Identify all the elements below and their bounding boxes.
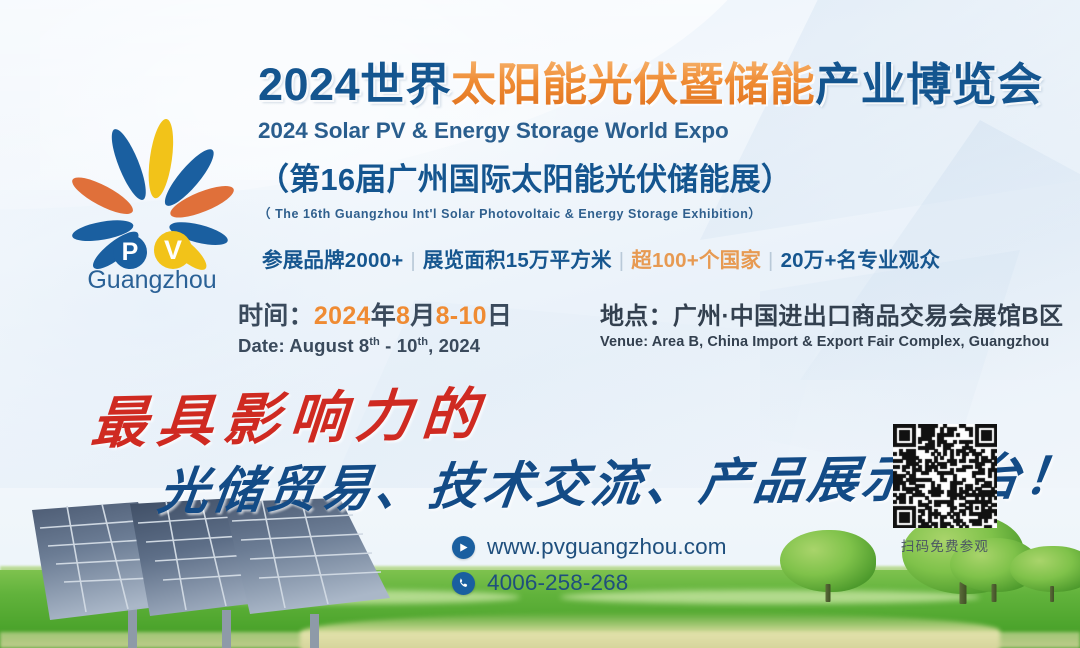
main-title-part-1: 2024世界	[258, 59, 451, 110]
main-title-english: 2024 Solar PV & Energy Storage World Exp…	[258, 118, 1058, 144]
tree-crown	[1010, 546, 1080, 592]
date-label: 时间：	[238, 302, 314, 330]
logo-wordmark: Guangzhou	[87, 266, 216, 294]
main-title-part-2: 太阳能光伏暨储能	[451, 59, 815, 110]
stat-separator-2: |	[612, 249, 632, 272]
contact-website-row[interactable]: www.pvguangzhou.com	[452, 534, 727, 560]
venue-value: 广州·中国进出口商品交易会展馆B区	[673, 303, 1063, 330]
tree-crown	[780, 530, 876, 592]
logo-sunburst-petals	[68, 117, 237, 275]
date-day-start: 8	[436, 302, 450, 330]
tree-far-right	[1010, 546, 1080, 592]
stat-countries: 超100+个国家	[631, 249, 761, 272]
date-en-day1: 8	[359, 335, 369, 356]
stat-area: 展览面积15万平方米	[423, 249, 612, 272]
venue-chinese: 地点：广州·中国进出口商品交易会展馆B区	[600, 296, 1063, 331]
qr-block: 扫码免费参观	[893, 424, 997, 555]
qr-caption: 扫码免费参观	[893, 535, 997, 555]
headline-block: 2024世界太阳能光伏暨储能产业博览会 2024 Solar PV & Ener…	[258, 62, 1058, 222]
tree-trunk	[826, 584, 831, 602]
stat-separator-3: |	[761, 249, 781, 272]
stat-brands: 参展品牌2000+	[262, 249, 403, 272]
qr-code[interactable]	[893, 424, 997, 528]
subtitle-chinese: （第16届广州国际太阳能光伏储能展）	[258, 154, 1058, 199]
date-en-mid: -	[380, 335, 397, 356]
globe-play-icon	[452, 536, 475, 559]
logo-letter-v: V	[164, 235, 182, 265]
logo-letter-p: P	[122, 238, 139, 266]
date-en-prefix: Date: August	[238, 335, 359, 356]
contact-phone-row[interactable]: 4006-258-268	[452, 570, 727, 596]
main-title-part-3: 产业博览会	[815, 59, 1043, 110]
date-en-sup1: th	[369, 336, 380, 348]
date-chinese: 时间：2024年8月8-10日	[238, 296, 512, 332]
date-year-unit: 年	[371, 302, 396, 330]
expo-poster: P V Guangzhou 2024世界太阳能光伏暨储能产业博览会 2024 S…	[0, 0, 1080, 648]
pv-guangzhou-logo: P V Guangzhou	[52, 104, 262, 294]
date-day-unit: 日	[487, 302, 512, 330]
slogan-red: 最具影响力的	[88, 369, 491, 460]
date-en-day2: 10	[397, 335, 418, 356]
tree-small-left	[780, 530, 876, 592]
website-url[interactable]: www.pvguangzhou.com	[487, 534, 727, 560]
contact-block: www.pvguangzhou.com 4006-258-268	[452, 534, 727, 606]
stat-visitors: 20万+名专业观众	[781, 249, 941, 272]
logo-letter-circles: P V	[113, 231, 192, 269]
stats-row: 参展品牌2000+|展览面积15万平方米|超100+个国家|20万+名专业观众	[262, 243, 940, 273]
phone-icon	[452, 572, 475, 595]
date-day-end: 10	[458, 302, 486, 330]
subtitle-english: （ The 16th Guangzhou Int'l Solar Photovo…	[258, 203, 1058, 222]
date-month: 8	[396, 302, 410, 330]
date-en-suffix: , 2024	[428, 335, 480, 356]
stat-separator-1: |	[403, 249, 423, 272]
date-en-sup2: th	[417, 336, 428, 348]
date-english: Date: August 8th - 10th, 2024	[238, 335, 512, 357]
tree-trunk	[1050, 586, 1054, 602]
venue-block: 地点：广州·中国进出口商品交易会展馆B区 Venue: Area B, Chin…	[600, 296, 1063, 350]
date-month-unit: 月	[410, 302, 435, 330]
date-block: 时间：2024年8月8-10日 Date: August 8th - 10th,…	[238, 296, 512, 357]
venue-label: 地点：	[600, 303, 673, 330]
main-title: 2024世界太阳能光伏暨储能产业博览会	[258, 62, 1058, 109]
phone-number[interactable]: 4006-258-268	[487, 570, 628, 596]
tree-trunk	[992, 584, 997, 602]
date-year: 2024	[314, 302, 371, 330]
venue-english: Venue: Area B, China Import & Export Fai…	[600, 334, 1063, 350]
